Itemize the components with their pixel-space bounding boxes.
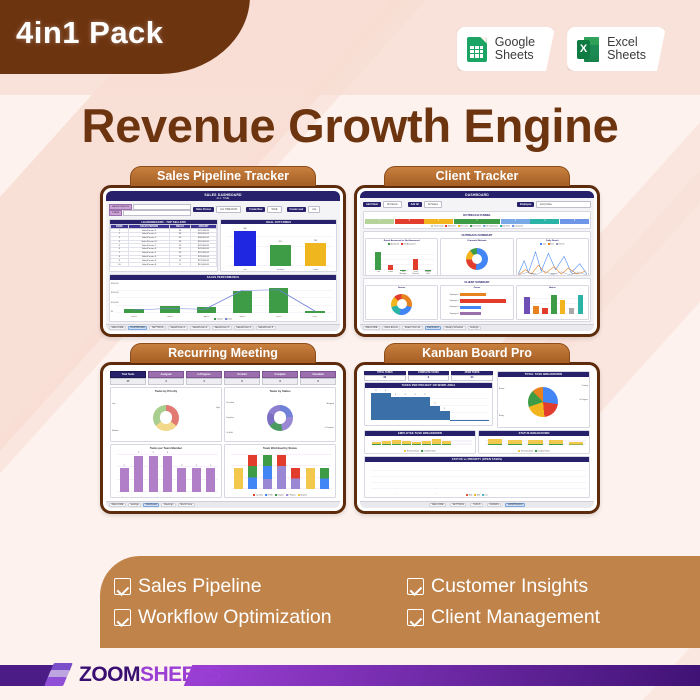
tab-salesperson-4[interactable]: SalesPerson 4 [234, 326, 254, 330]
checkbox-icon [407, 578, 424, 595]
daily-reach-chart: Week 1 Week 2 Week 3 [517, 246, 588, 276]
btn-all-clients[interactable]: All Clients [383, 201, 402, 208]
status-breakdown-panel: STATUS BREAKDOWN [478, 430, 590, 454]
team-workload-panel: Team Workload by Status [224, 444, 336, 498]
tab-dashboard[interactable]: Dashboard [143, 503, 159, 507]
feature-sales-pipeline: Sales Pipeline [114, 571, 407, 602]
sheet-client-tracker: DASHBOARD Add Client All Clients Add All… [360, 191, 594, 331]
tasks-by-status-donut [267, 405, 293, 431]
deal-outcomes-chart: 306 191 203 Lost Warming Closed [221, 224, 336, 271]
outreach-methods-panel: Outreach Methods [440, 238, 513, 276]
feature-label: Sales Pipeline [138, 575, 262, 598]
tab-reach-out-list[interactable]: Reach Out List [402, 326, 422, 330]
team-workload-chart: Emily Johnson Aaron Singh Cecile McKinle… [225, 451, 335, 494]
outreach-methods-donut [466, 248, 488, 270]
zoomsheets-logo[interactable]: ZOOMSHEETS [46, 663, 221, 687]
card-client-tracker[interactable]: Client Tracker DASHBOARD Add Client All … [354, 166, 600, 337]
card-tab-label: Recurring Meeting [130, 343, 316, 363]
feature-label: Client Management [431, 606, 600, 629]
footer: ZOOMSHEETS [0, 648, 700, 700]
feature-workflow-optimization: Workflow Optimization [114, 602, 407, 633]
btn-employee[interactable]: Employee [517, 202, 534, 207]
kpi-in-progress: In Progress 4 [186, 371, 222, 385]
btn-add-client[interactable]: Add Client [363, 202, 381, 207]
sheet-recurring-meeting: Total Tasks 17 Assigned 4 In Progress 4 [106, 368, 340, 508]
status-panel: Status [516, 285, 589, 321]
employee-breakdown-legend: Remaining Tasks Completed Tasks [365, 450, 475, 453]
bar-warming: 191 [270, 245, 291, 267]
bar-closed: 203 [305, 243, 326, 266]
label-medium: Medium [112, 430, 118, 432]
tab-client-list[interactable]: Client Ed List [382, 326, 401, 330]
funnel-seg-site-inspection: 3 [501, 219, 530, 224]
btn-all-status[interactable]: All Status [424, 201, 442, 208]
label-assigned: Assigned [327, 403, 334, 405]
hbar-row: Employee 2 [445, 299, 508, 303]
card-row-bottom: Recurring Meeting Total Tasks 17 Assigne… [100, 343, 600, 514]
status-breakdown-chart: Pending In Progress Ready Review Done [479, 436, 589, 451]
btn-create-new[interactable]: Create New [246, 207, 265, 212]
btn-all[interactable]: ALL [308, 206, 320, 213]
hbar-row: Employee 3 [445, 306, 508, 310]
stage-filter-input[interactable] [123, 210, 191, 216]
kpi-on-hold: On Hold 3 [224, 371, 260, 385]
card-screenshot: Total Tasks 17 Assigned 4 In Progress 4 [100, 362, 346, 514]
platform-badges: Google Sheets X Excel Sheets [457, 27, 666, 71]
label-cancelled: Cancelled [226, 402, 234, 404]
status-vs-priority-chart: Pending In Progress Ready Review Done [365, 462, 589, 494]
funnel-seg-interested: 7 [454, 219, 501, 224]
status-breakdown-legend: Remaining Tasks Completed Tasks [479, 450, 589, 453]
kpi-complete: Complete 3 [262, 371, 298, 385]
excel-sheets-label: Excel Sheets [607, 36, 646, 63]
logo-text-sheets: SHEETS [140, 663, 221, 686]
excel-line1: Excel [607, 36, 646, 50]
sheet-kanban-board: TOTAL TASKS 33 COMPLETE TASKS 9 [360, 368, 594, 508]
salesperson-filter-input[interactable] [133, 204, 192, 210]
salesperson-filter-label[interactable]: SALES PERSON [109, 204, 132, 210]
funnel-bar: 7 3 4 7 3 4 6 [364, 218, 590, 225]
checkbox-icon [114, 578, 131, 595]
tab-settings[interactable]: Settings [468, 326, 481, 330]
outreach-summary-panel: OUTREACH SUMMARY Reach Answered vs Not A… [363, 231, 591, 276]
btn-save[interactable]: SAVE [267, 206, 281, 213]
btn-sales-person[interactable]: Sales Person [193, 207, 214, 212]
google-sheets-line1: Google [495, 36, 535, 50]
feature-customer-insights: Customer Insights [407, 571, 700, 602]
sheet-tabbar[interactable]: WELCOME Settings Dashboard Meetings Mont… [106, 501, 340, 508]
daily-reach-panel: Daily Reach Call Email Site Visit [516, 238, 589, 276]
sheet-tabbar[interactable]: WELCOME SETTINGS TASKS KANBAN DASHBOARD [360, 501, 594, 508]
filter-controls[interactable]: SALES PERSON STAGE Sales Person [109, 203, 337, 217]
pack-badge-label: 4in1 Pack [16, 15, 164, 51]
kpi-total-tasks: Total Tasks 17 [110, 371, 146, 385]
excel-icon-letter: X [577, 40, 590, 59]
google-sheets-badge[interactable]: Google Sheets [457, 27, 555, 71]
card-tab-label: Client Tracker [384, 166, 570, 186]
dashboard-title: DASHBOARD [465, 193, 489, 197]
funnel-seg-total-leads: 7 [365, 219, 394, 224]
hbar-row: Employee 4 [445, 312, 508, 316]
xlabel-closed: Closed [309, 269, 322, 271]
kpi-row: TOTAL TASKS 33 COMPLETE TASKS 9 [364, 371, 493, 381]
tab-welcome[interactable]: WELCOME [109, 503, 126, 507]
label-pending: Pending [582, 385, 588, 387]
card-screenshot: DASHBOARD Add Client All Clients Add All… [354, 185, 600, 337]
kpi-row: Total Tasks 17 Assigned 4 In Progress 4 [110, 371, 336, 385]
employee-task-breakdown-chart: Emp 1 Emp 2 Emp 3 Emp 4 Emp 5 Emp 6 Emp … [365, 436, 475, 451]
tab-settings[interactable]: SETTINGS [149, 326, 166, 330]
btn-add-all[interactable]: Add All [408, 202, 422, 207]
excel-icon: X [577, 37, 599, 62]
logo-mark-icon [46, 663, 72, 687]
tab-dashboard[interactable]: DASHBOARD [128, 326, 148, 330]
tab-salesperson-5[interactable]: SalesPerson 5 [256, 326, 276, 330]
outreach-funnel-panel: OUTREACH FUNNEL 7 3 4 7 3 4 6 [363, 211, 591, 229]
tab-tasks[interactable]: TASKS [470, 503, 482, 507]
card-tab-label: Kanban Board Pro [384, 343, 570, 363]
card-screenshot: SALES DASHBOARD ALL TIME SALES PERSON [100, 185, 346, 337]
poster-canvas: 4in1 Pack Google Sheets X Excel Sheets R… [0, 0, 700, 700]
card-recurring-meeting[interactable]: Recurring Meeting Total Tasks 17 Assigne… [100, 343, 346, 514]
deals-trendline [116, 283, 333, 313]
bar-email [388, 265, 394, 270]
tab-dashboard[interactable]: DASHBOARD [505, 503, 525, 507]
filter-controls[interactable]: Add Client All Clients Add All All Statu… [363, 200, 591, 209]
stage-filter-label[interactable]: STAGE [109, 210, 122, 216]
leaderboard-table: RANK SALES PERSON DEALS AMOUNT 1SalesPer… [110, 224, 217, 267]
team-workload-legend: Cancelled On Hold Complete In Progress A… [225, 494, 335, 497]
bar-call [375, 252, 381, 270]
sheet-sales-pipeline: SALES DASHBOARD ALL TIME SALES PERSON [106, 191, 340, 331]
label-in-progress: In Progress [325, 427, 334, 429]
employee-task-breakdown-panel: EMPLOYEE TASK BREAKDOWN [364, 430, 476, 454]
tasks-by-priority-panel: Tasks by Priority High Low Medium [110, 387, 222, 441]
kpi-open-tasks: OPEN TASKS 24 [451, 371, 493, 381]
checkbox-icon [114, 609, 131, 626]
legend-deals: Deals [225, 318, 232, 321]
xlabel-lost: Lost [239, 269, 252, 271]
tasks-per-project-chart: 6 6 5 5 5 5 3 2 [365, 388, 492, 425]
bar-lost: 306 [234, 231, 255, 266]
funnel-seg-converted: 6 [560, 219, 589, 224]
card-row-top: Sales Pipeline Tracker SALES DASHBOARD A… [100, 166, 600, 337]
funnel-seg-first-call: 4 [424, 219, 453, 224]
tasks-per-member-panel: Tasks per Team Member 2 3 3 3 [110, 444, 222, 498]
features-panel: Sales Pipeline Customer Insights Workflo… [100, 556, 700, 648]
source-donut [391, 294, 412, 315]
logo-text-zoom: ZOOM [79, 663, 140, 686]
tab-kanban[interactable]: KANBAN [487, 503, 501, 507]
tasks-by-status-panel: Tasks by Status Assigned In Progress Can… [224, 387, 336, 441]
tab-welcome[interactable]: WELCOME [429, 503, 446, 507]
checkbox-icon [407, 609, 424, 626]
page-title: Revenue Growth Engine [0, 98, 700, 153]
reach-answered-panel: Reach Answered vs Not Answered Answered … [365, 238, 438, 276]
label-low: Low [112, 403, 115, 405]
card-sales-pipeline-tracker[interactable]: Sales Pipeline Tracker SALES DASHBOARD A… [100, 166, 346, 337]
tab-dashboard[interactable]: Dashboard [425, 326, 441, 330]
dashboard-header: DASHBOARD [360, 191, 594, 198]
legend-closed: Closed [214, 318, 222, 321]
kpi-complete-tasks: COMPLETE TASKS 9 [408, 371, 450, 381]
sales-performance-chart: $300,000 $200,000 $100,000 $0 [110, 280, 336, 318]
excel-sheets-badge[interactable]: X Excel Sheets [567, 27, 666, 71]
owner-chart: Employee 1 Employee 2 Employee 3 Employe… [441, 290, 512, 320]
tab-salesperson-1[interactable]: SalesPerson 1 [168, 326, 188, 330]
total-task-breakdown-panel: TOTAL TASK BREAKDOWN Pending In Progress… [497, 371, 590, 428]
btn-create-lead[interactable]: Create Lead [287, 207, 307, 212]
feature-label: Workflow Optimization [138, 606, 332, 629]
label-on-hold: On Hold [226, 432, 233, 434]
dashboard-header: SALES DASHBOARD ALL TIME [106, 191, 340, 201]
tasks-by-priority-donut [153, 405, 179, 431]
client-summary-panel: CLIENT SUMMARY Source [363, 278, 591, 323]
funnel-seg-site-visit: 4 [530, 219, 559, 224]
deal-outcomes-panel: DEAL OUTCOMES 306 191 203 [220, 219, 337, 273]
google-sheets-label: Google Sheets [495, 36, 535, 63]
xlabel-warming: Warming [274, 269, 287, 271]
tab-weekly-schedule[interactable]: Weekly Schedule [443, 326, 466, 330]
tab-settings[interactable]: Settings [128, 503, 141, 507]
excel-line2: Sheets [607, 49, 646, 63]
tab-welcome[interactable]: WELCOME [363, 326, 380, 330]
tab-meetings[interactable]: Meetings [161, 503, 175, 507]
sales-performance-legend: Closed Deals [110, 318, 336, 321]
card-screenshot: TOTAL TASKS 33 COMPLETE TASKS 9 [354, 362, 600, 514]
tab-welcome[interactable]: WELCOME [109, 326, 126, 330]
product-cards: Sales Pipeline Tracker SALES DASHBOARD A… [100, 166, 600, 520]
label-in-progress: In Progress [579, 399, 588, 401]
funnel-seg-rejected: 3 [395, 219, 424, 224]
feature-client-management: Client Management [407, 602, 700, 633]
tab-salesperson-3[interactable]: SalesPerson 3 [212, 326, 232, 330]
leaderboard-panel: LEADERBOARD - TOP SELLERS RANK SALES PER… [109, 219, 218, 273]
select-entry-data[interactable]: Entry Data [536, 201, 591, 208]
hbar-row: Employee 1 [445, 293, 508, 297]
google-sheets-icon [467, 37, 487, 62]
card-kanban-board-pro[interactable]: Kanban Board Pro TOTAL TASKS 33 [354, 343, 600, 514]
total-task-breakdown-pie [528, 387, 558, 417]
status-vs-priority-legend: High Med Low [365, 494, 589, 497]
source-panel: Source [365, 285, 438, 321]
sheet-tabbar[interactable]: WELCOME DASHBOARD SETTINGS SalesPerson 1… [106, 324, 340, 331]
tab-settings[interactable]: SETTINGS [450, 503, 467, 507]
reach-answered-chart: Call Email The Manager Other Outreach Pr… [366, 246, 437, 275]
tab-salesperson-2[interactable]: SalesPerson 2 [190, 326, 210, 330]
kpi-cancelled: Cancelled 3 [300, 371, 336, 385]
bar-other [413, 259, 419, 271]
tasks-per-member-chart: 2 3 3 3 2 2 2 [111, 451, 221, 497]
sales-performance-panel: SALES PERFORMANCE $300,000 $200,000 $100… [109, 274, 337, 322]
google-sheets-line2: Sheets [495, 49, 535, 63]
status-vs-priority-panel: STATUS vs PRIORITY (OPEN TASKS) [364, 456, 590, 498]
card-tab-label: Sales Pipeline Tracker [130, 166, 316, 186]
btn-all-time-data[interactable]: ALL TIME DATA [216, 206, 241, 213]
dashboard-subtitle: ALL TIME [106, 197, 340, 200]
feature-label: Customer Insights [431, 575, 588, 598]
label-ready: Ready [499, 415, 504, 417]
tab-month-view[interactable]: Month View [178, 503, 195, 507]
label-high: High [216, 407, 220, 409]
tasks-per-project-panel: TASKS PER PROJECT OR WORK AREA 6 6 5 [364, 382, 493, 426]
owner-panel: Owner Employee 1 Employee 2 Employee 3 E… [440, 285, 513, 321]
kpi-assigned: Assigned 4 [148, 371, 184, 385]
kpi-total-tasks: TOTAL TASKS 33 [364, 371, 406, 381]
sheet-tabbar[interactable]: WELCOME Client Ed List Reach Out List Da… [360, 324, 594, 331]
funnel-legend: Total Leads Rejected First Call Interest… [364, 225, 590, 228]
label-review: Review [499, 388, 505, 390]
status-chart: Interested First Call Site Visit Convert… [517, 290, 588, 320]
table-row: 10SalesPerson 88$15,000.00 [111, 263, 217, 267]
label-complete: Complete [226, 417, 234, 419]
footer-bar-right [184, 665, 700, 686]
logo-text: ZOOMSHEETS [79, 663, 221, 687]
